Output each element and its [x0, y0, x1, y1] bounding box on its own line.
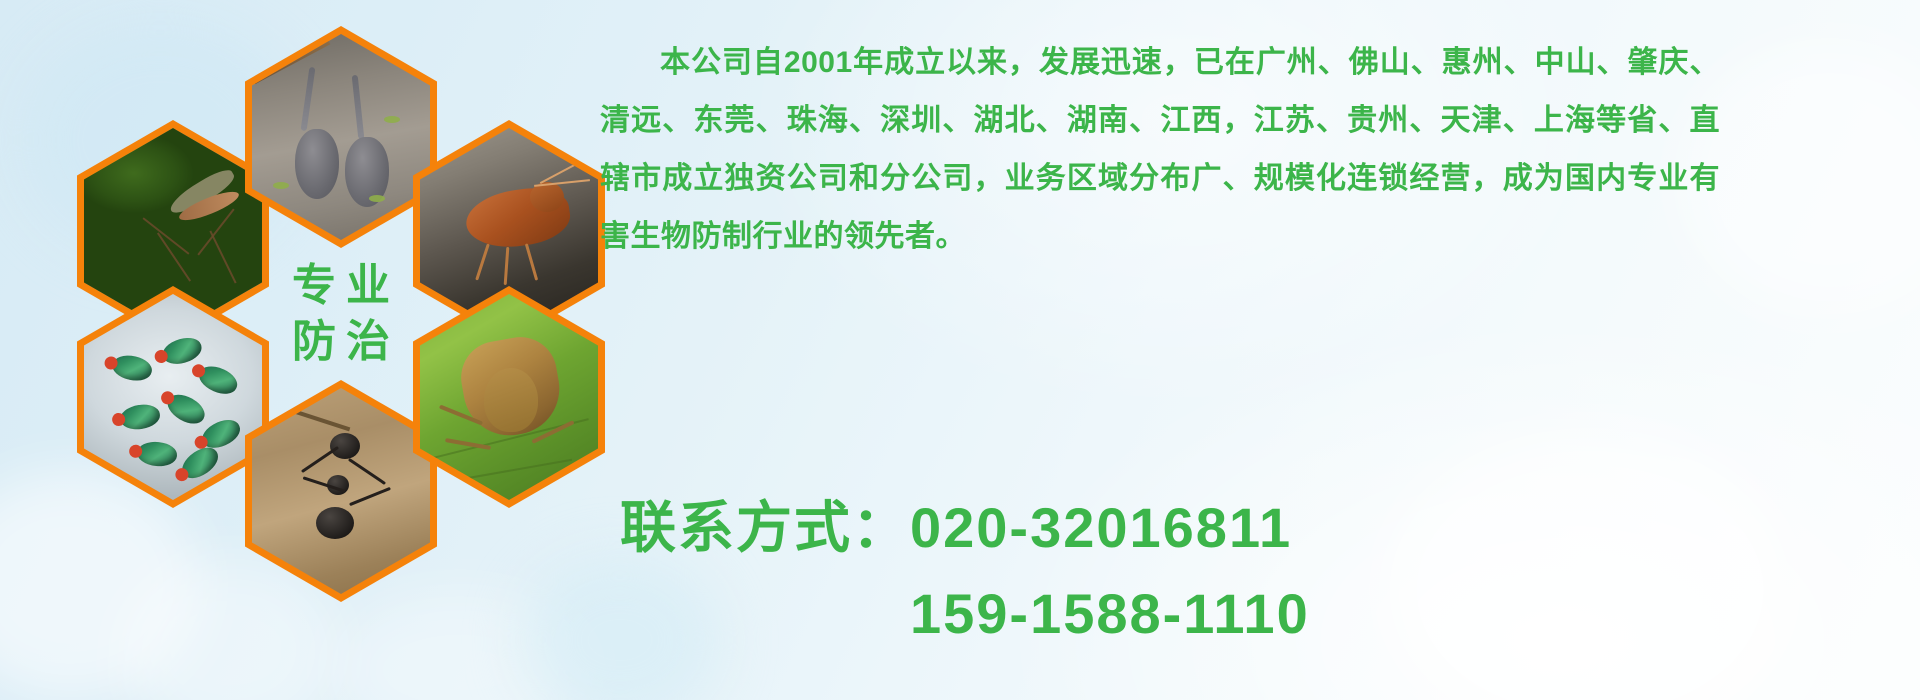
honeycomb-collage: 专业 防治	[95, 8, 595, 568]
contact-block: 联系方式：020-32016811 159-1588-1110	[620, 485, 1770, 657]
flies-photo	[84, 294, 262, 500]
promo-banner: 专业 防治 本公司自2001年成立以来，发展迅速，已在广州、佛山、惠州、中山、肇…	[0, 0, 1920, 700]
contact-primary-line[interactable]: 联系方式：020-32016811	[620, 485, 1770, 571]
hex-image-stinkbug	[420, 294, 598, 500]
hex-image-flies	[84, 294, 262, 500]
contact-secondary-line[interactable]: 159-1588-1110	[620, 571, 1770, 657]
honeycomb-center-label: 专业 防治	[245, 203, 437, 425]
hex-cell-flies	[77, 286, 269, 508]
company-intro-block: 本公司自2001年成立以来，发展迅速，已在广州、佛山、惠州、中山、肇庆、清远、东…	[600, 34, 1720, 266]
stink-bug-photo	[420, 294, 598, 500]
company-intro-paragraph: 本公司自2001年成立以来，发展迅速，已在广州、佛山、惠州、中山、肇庆、清远、东…	[600, 34, 1720, 266]
center-label-line-2: 防治	[282, 320, 400, 364]
background-bokeh-blob	[330, 590, 590, 700]
hex-cell-stinkbug	[413, 286, 605, 508]
center-label-line-1: 专业	[282, 264, 400, 308]
